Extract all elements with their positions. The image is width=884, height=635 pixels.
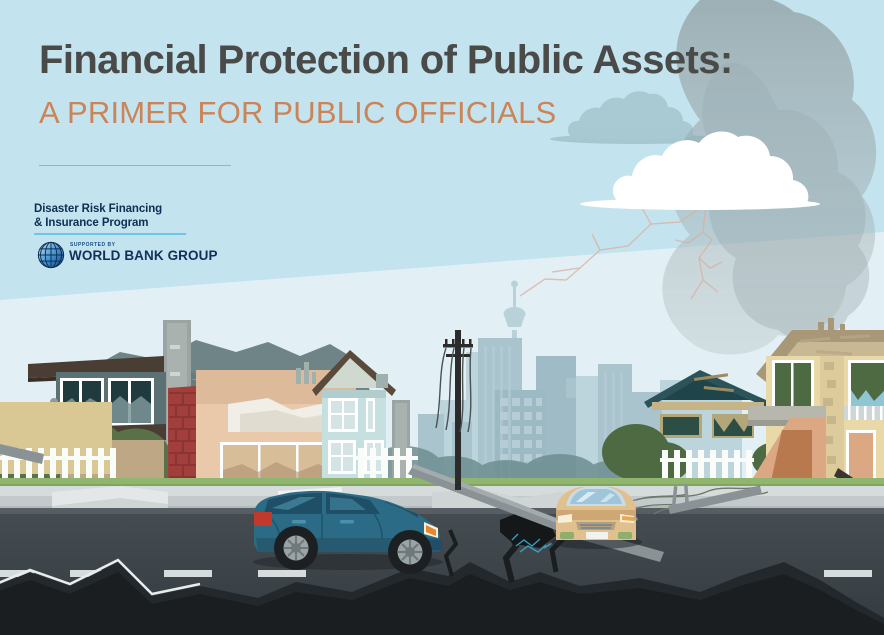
- cover-text-block: Financial Protection of Public Assets: A…: [0, 0, 884, 300]
- road: [0, 508, 884, 635]
- yellow-sedan: [550, 487, 642, 549]
- drfip-logo: Disaster Risk Financing & Insurance Prog…: [34, 203, 234, 271]
- world-bank-globe-icon: [37, 241, 65, 269]
- wheel: [274, 526, 318, 570]
- title-divider: [39, 165, 231, 166]
- logo-divider: [34, 233, 186, 235]
- page-title: Financial Protection of Public Assets:: [39, 38, 733, 82]
- program-name-line-2: & Insurance Program: [34, 217, 234, 231]
- world-bank-lockup: SUPPORTED BY WORLD BANK GROUP: [34, 241, 234, 271]
- wheel: [388, 530, 432, 574]
- organization-name: WORLD BANK GROUP: [69, 248, 218, 263]
- program-name-line-1: Disaster Risk Financing: [34, 203, 234, 217]
- book-cover: Financial Protection of Public Assets: A…: [0, 0, 884, 635]
- page-subtitle: A PRIMER FOR PUBLIC OFFICIALS: [39, 96, 556, 130]
